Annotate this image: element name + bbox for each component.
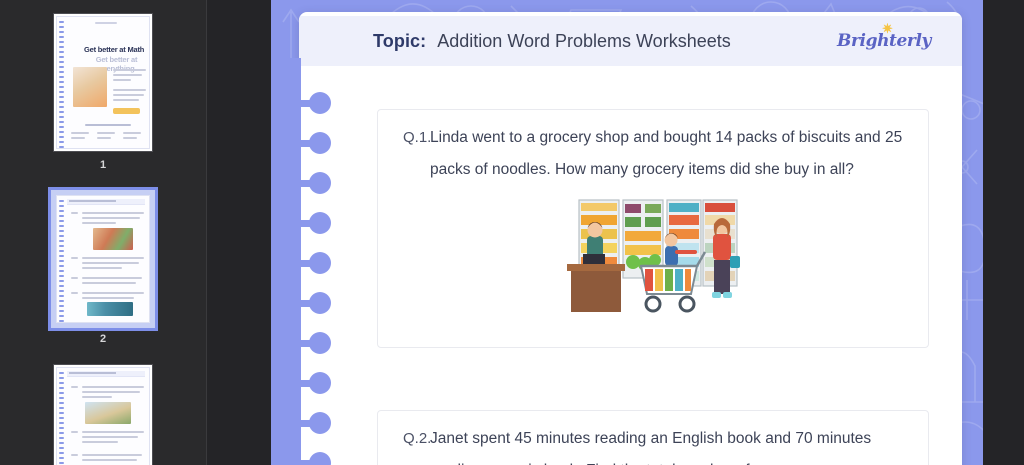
thumbnail-header-band <box>67 371 145 377</box>
thumbnail-title-1: Get better at Math <box>84 45 144 54</box>
thumbnail-cta-button <box>113 108 140 114</box>
spiral-ring-icon <box>271 412 333 434</box>
thumbnail-preview-1: Get better at Math Get better at everyth… <box>56 16 150 149</box>
thumbnail-spiral-icon <box>59 372 64 465</box>
thumbnail-illustration-1 <box>73 67 107 107</box>
thumbnail-item-1[interactable]: Get better at Math Get better at everyth… <box>0 14 206 171</box>
question-box-1: Q.1. Linda went to a grocery shop and bo… <box>377 109 929 348</box>
thumbnail-header-band <box>67 199 145 205</box>
thumbnail-preview-2 <box>56 195 150 323</box>
topic-value: Addition Word Problems Worksheets <box>437 31 730 52</box>
question-text-1: Linda went to a grocery shop and bought … <box>430 122 928 186</box>
thumbnail-item-2[interactable]: 2 <box>0 190 206 345</box>
question-box-2: Q.2. Janet spent 45 minutes reading an E… <box>377 410 929 465</box>
thumbnail-card-1[interactable]: Get better at Math Get better at everyth… <box>54 14 152 151</box>
question-number-2: Q.2. <box>378 423 430 465</box>
question-row-2: Q.2. Janet spent 45 minutes reading an E… <box>378 411 928 465</box>
thumbnail-spiral-icon <box>59 21 64 144</box>
thumbnail-illustration-3a <box>85 402 131 424</box>
thumbnail-preview-3 <box>56 367 150 465</box>
thumbnail-item-3[interactable]: 3 <box>0 365 206 465</box>
question-number-1: Q.1. <box>378 122 430 186</box>
thumbnail-page-number-1: 1 <box>0 159 206 171</box>
thumbnail-page-number-2: 2 <box>0 333 206 345</box>
spiral-ring-icon <box>271 372 333 394</box>
spiral-ring-icon <box>271 452 333 465</box>
viewer-right-margin <box>983 0 1024 465</box>
spiral-ring-icon <box>271 252 333 274</box>
thumbnail-card-3[interactable] <box>54 365 152 465</box>
grocery-store-illustration <box>565 190 741 326</box>
thumbnail-card-2[interactable] <box>51 190 155 328</box>
viewer-left-margin <box>207 0 271 465</box>
spiral-ring-icon <box>271 292 333 314</box>
spiral-ring-icon <box>271 212 333 234</box>
worksheet-header: Topic: Addition Word Problems Worksheets… <box>299 16 962 66</box>
spiral-ring-icon <box>271 92 333 114</box>
question-illustration-1 <box>378 186 928 347</box>
thumbnail-illustration-2b <box>87 302 133 316</box>
thumbnail-spiral-icon <box>59 200 64 318</box>
worksheet-viewer[interactable]: Topic: Addition Word Problems Worksheets… <box>271 0 983 465</box>
question-text-2: Janet spent 45 minutes reading an Englis… <box>430 423 928 465</box>
spiral-ring-icon <box>271 172 333 194</box>
worksheet-page: Topic: Addition Word Problems Worksheets… <box>299 12 962 465</box>
brighterly-logo: ✷ Brighterly <box>837 31 931 51</box>
spiral-ring-icon <box>271 132 333 154</box>
spiral-binding <box>271 58 341 465</box>
page-thumbnail-rail[interactable]: Get better at Math Get better at everyth… <box>0 0 206 465</box>
thumbnail-header-line <box>95 22 117 24</box>
question-row-1: Q.1. Linda went to a grocery shop and bo… <box>378 110 928 186</box>
spiral-ring-icon <box>271 332 333 354</box>
topic-label: Topic: <box>373 31 426 52</box>
thumbnail-illustration-2a <box>93 228 133 250</box>
sun-star-icon: ✷ <box>882 22 893 37</box>
